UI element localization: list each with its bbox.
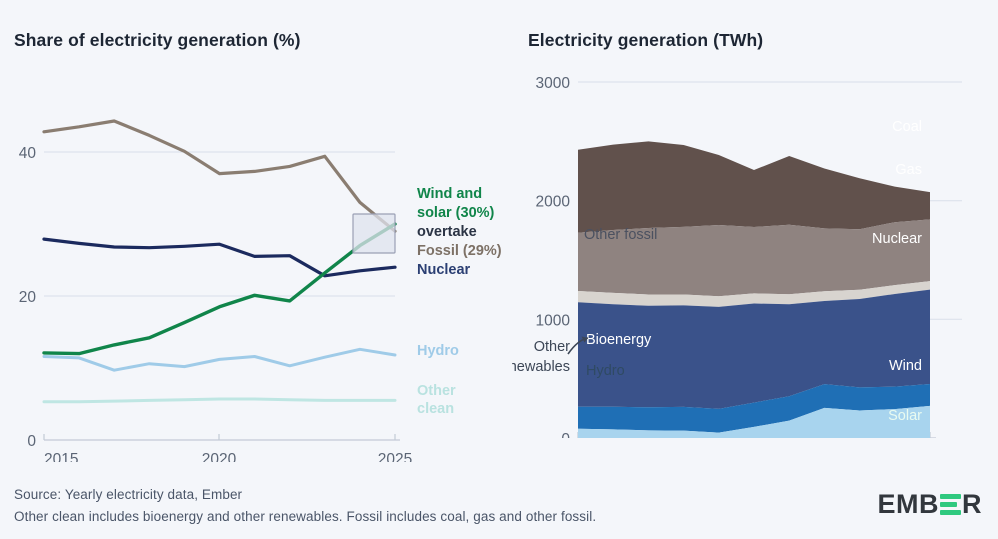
annotation-line-3: overtake — [417, 224, 477, 240]
xtick-2015: 2015 — [44, 451, 78, 462]
right-chart-title: Electricity generation (TWh) — [528, 30, 763, 51]
series-line-fossil — [44, 121, 395, 231]
series-line-other-clean — [44, 399, 395, 402]
label-other-clean-line1: Other — [417, 383, 456, 399]
ember-logo-suffix: R — [962, 491, 982, 518]
ytick-2000: 2000 — [536, 194, 571, 211]
area-label-wind: Wind — [889, 358, 922, 374]
area-coal — [578, 141, 930, 232]
ytick-1000: 1000 — [536, 312, 571, 329]
other-renewables-label-line2: renewables — [512, 359, 570, 375]
share-chart-panel: Share of electricity generation (%) 40 2… — [0, 0, 512, 470]
ember-logo-prefix: EMB — [878, 491, 940, 518]
chart-footer: Source: Yearly electricity data, Ember O… — [0, 470, 998, 539]
annotation-line-2: solar (30%) — [417, 205, 495, 221]
ytick-20: 20 — [19, 289, 37, 306]
area-label-other-fossil: Other fossil — [584, 227, 657, 243]
ytick-3000: 3000 — [536, 75, 571, 92]
label-other-clean-line2: clean — [417, 401, 454, 417]
area-label-solar: Solar — [888, 408, 922, 424]
source-text: Source: Yearly electricity data, Ember — [14, 487, 242, 502]
xtick-2020: 2020 — [202, 451, 237, 462]
xtick-2025: 2025 — [378, 451, 412, 462]
electricity-generation-stacked-area-chart: 3000 2000 1000 0 2015 2020 2025 — [512, 56, 998, 466]
crossover-highlight-box — [353, 214, 395, 253]
area-label-gas: Gas — [895, 162, 922, 178]
footnote-text: Other clean includes bioenergy and other… — [14, 509, 596, 524]
ytick-0: 0 — [27, 433, 36, 450]
generation-chart-panel: Electricity generation (TWh) 3000 2000 1… — [512, 0, 998, 470]
left-chart-title: Share of electricity generation (%) — [14, 30, 301, 51]
annotation-line-4: Fossil (29%) — [417, 243, 502, 259]
stacked-areas — [578, 141, 930, 466]
label-hydro: Hydro — [417, 343, 459, 359]
label-nuclear: Nuclear — [417, 262, 471, 278]
other-renewables-label-line1: Other — [534, 339, 570, 355]
ytick-40: 40 — [19, 145, 37, 162]
ember-logo: EMB R — [878, 489, 983, 519]
area-label-hydro: Hydro — [586, 363, 625, 379]
baseline-mask — [512, 438, 998, 466]
annotation-line-1: Wind and — [417, 186, 482, 202]
share-of-generation-line-chart: 40 20 0 2015 2020 2025 Wind and solar (3… — [0, 62, 512, 462]
area-label-nuclear: Nuclear — [872, 231, 922, 247]
series-line-hydro — [44, 349, 395, 370]
ember-logo-e-icon — [940, 494, 961, 515]
area-label-bioenergy: Bioenergy — [586, 332, 652, 348]
area-label-coal: Coal — [892, 119, 922, 135]
